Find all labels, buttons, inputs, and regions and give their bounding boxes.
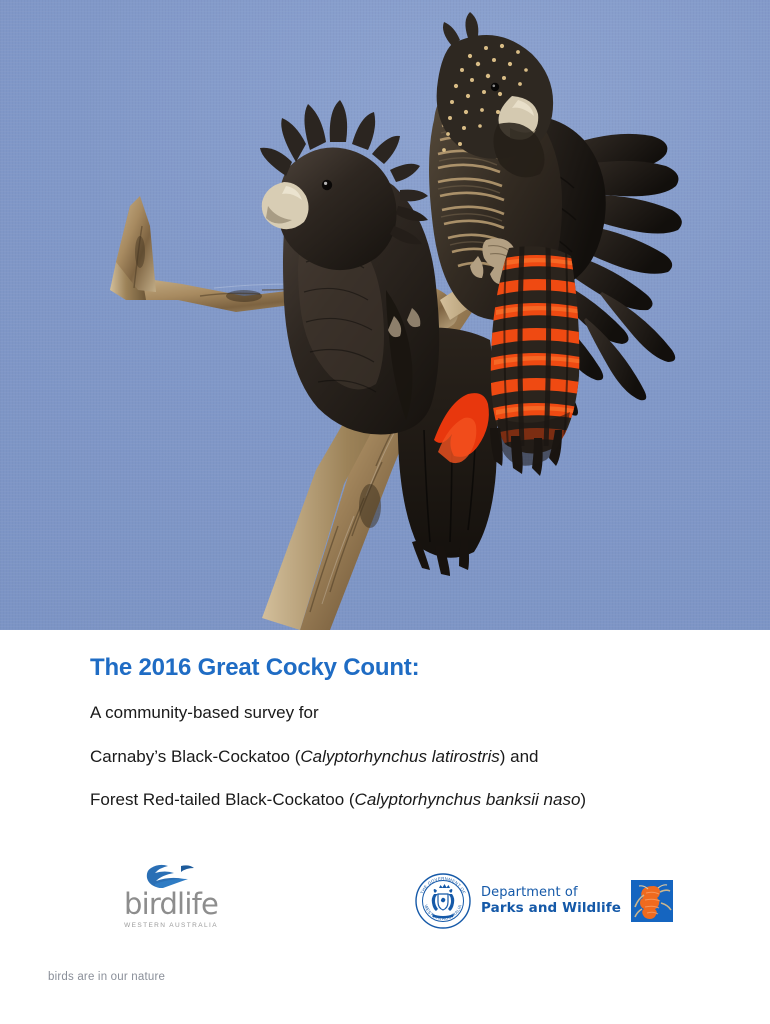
wa-government-seal-icon: THE GOVERNMENT OF WESTERN AUSTRALIA <box>414 872 472 930</box>
subtitle-line-3: Forest Red-tailed Black-Cockatoo (Calypt… <box>90 790 710 810</box>
subtitle-line-2-prefix: Carnaby’s Black-Cockatoo ( <box>90 747 300 766</box>
birdlife-wa-logo: birdlife WESTERN AUSTRALIA <box>112 862 230 929</box>
department-line-2: Parks and Wildlife <box>481 901 621 916</box>
subtitle-line-2-suffix: ) and <box>500 747 539 766</box>
wa-government-dpaw-logo: THE GOVERNMENT OF WESTERN AUSTRALIA Depa… <box>414 872 674 930</box>
subtitle-line-3-suffix: ) <box>580 790 586 809</box>
logo-row: birdlife WESTERN AUSTRALIA THE GOVERNMEN… <box>0 858 770 953</box>
tagline: birds are in our nature <box>48 971 165 983</box>
cover-photo <box>0 0 770 630</box>
birdlife-wordmark: birdlife <box>112 890 230 919</box>
eye <box>491 83 499 91</box>
banksia-flower-icon <box>630 879 674 923</box>
subtitle-line-2: Carnaby’s Black-Cockatoo (Calyptorhynchu… <box>90 747 710 767</box>
cockatoo-photo-illustration <box>0 0 770 630</box>
subtitle-line-1: A community-based survey for <box>90 703 710 723</box>
birdlife-region-label: WESTERN AUSTRALIA <box>112 922 230 929</box>
eye <box>322 180 332 190</box>
species-name-carnabys: Calyptorhynchus latirostris <box>300 747 499 766</box>
department-line-1: Department of <box>481 886 621 901</box>
cover-text-block: The 2016 Great Cocky Count: A community-… <box>90 655 710 810</box>
species-name-forest-red-tailed: Calyptorhynchus banksii naso <box>355 790 581 809</box>
subtitle-line-3-prefix: Forest Red-tailed Black-Cockatoo ( <box>90 790 355 809</box>
page-title: The 2016 Great Cocky Count: <box>90 655 710 681</box>
department-name: Department of Parks and Wildlife <box>481 886 621 916</box>
